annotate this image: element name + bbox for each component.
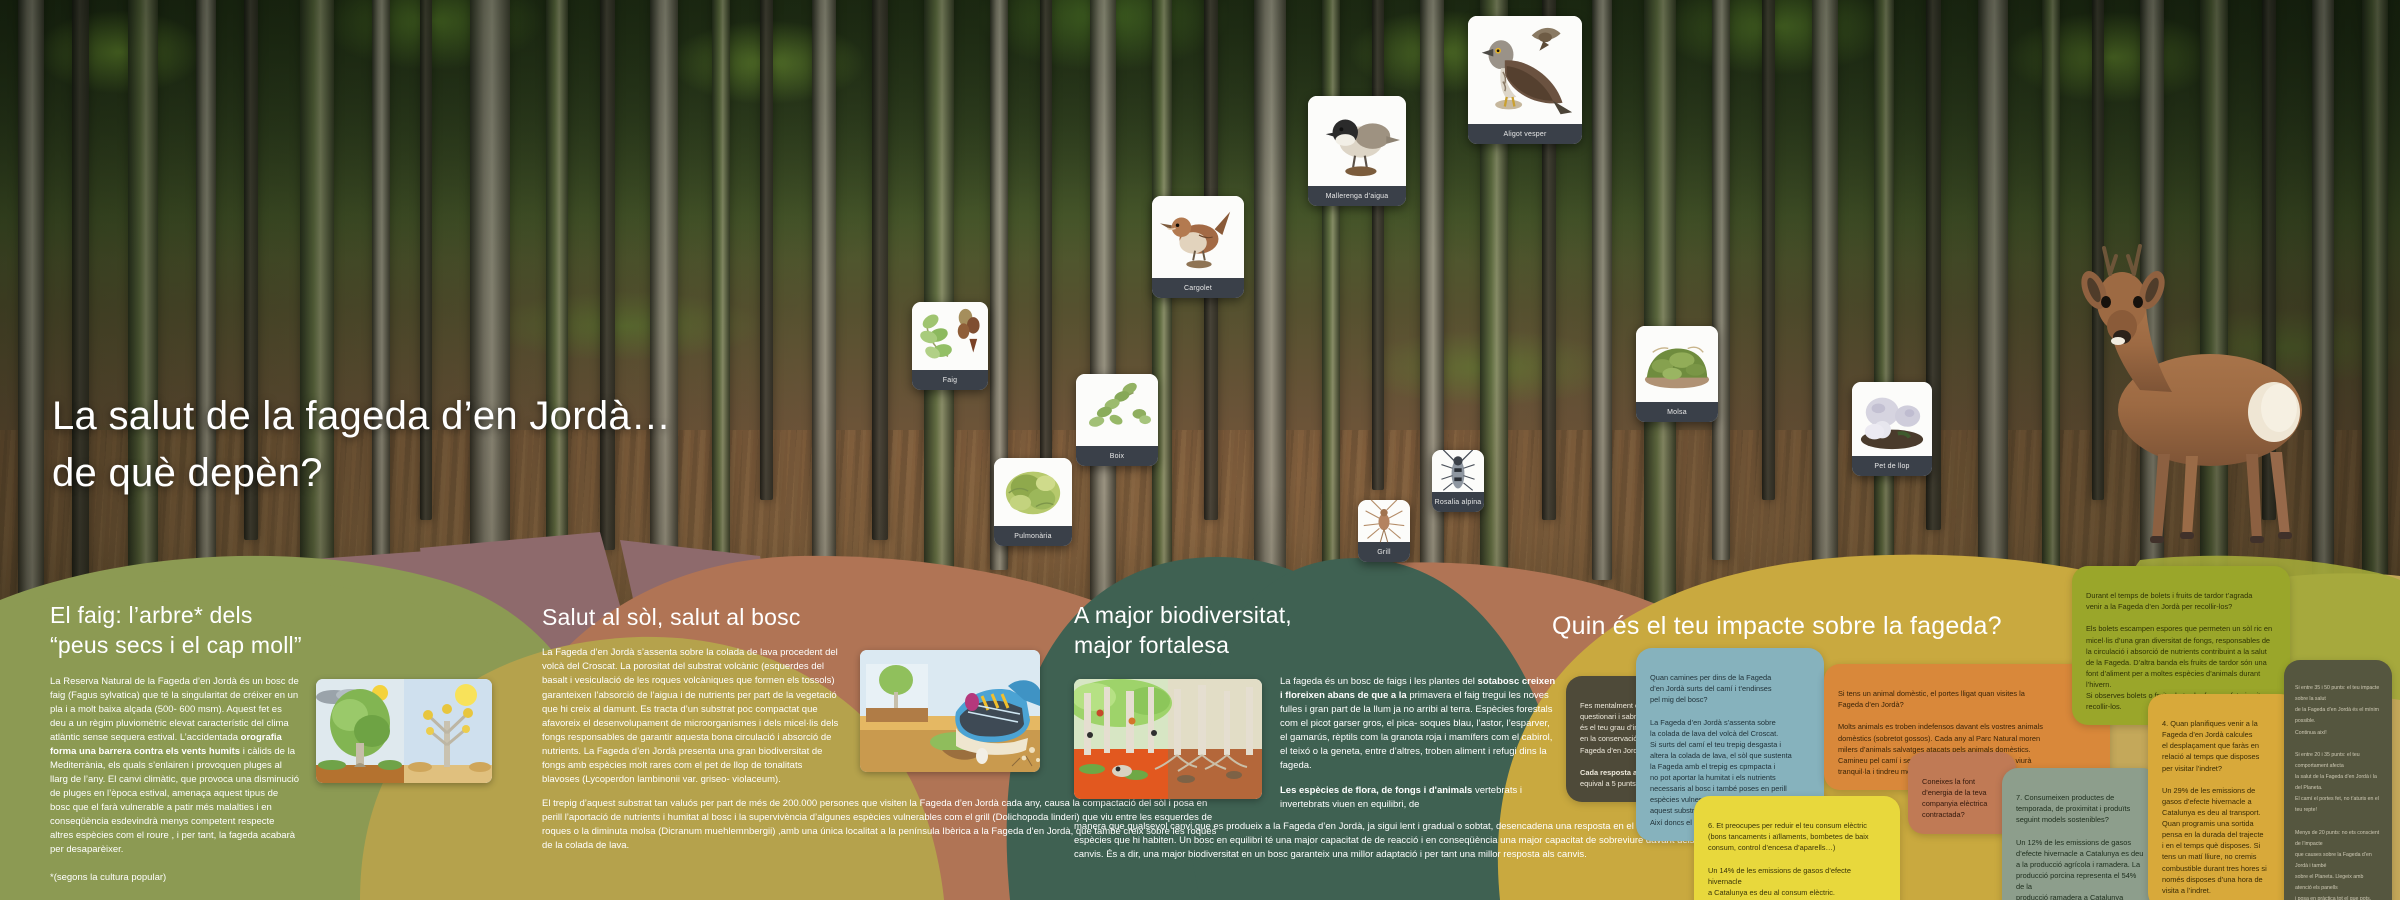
species-card-label: Grill: [1358, 542, 1410, 562]
page-title: La salut de la fageda d’en Jordà… de què…: [52, 388, 671, 502]
species-card-wren[interactable]: Cargolet: [1152, 196, 1244, 298]
panel-body-p1a: La fageda és un bosc de faigs i les plan…: [1280, 676, 1478, 687]
quiz-bubble-productes-temporada[interactable]: 7. Consumeixen productes de temporada, d…: [2002, 768, 2158, 900]
wren-illustration: [1152, 196, 1244, 278]
honey-buzzard-illustration: [1468, 16, 1582, 124]
marsh-tit-illustration: [1308, 96, 1406, 186]
bubble-text-2: equival a 5 punts: [1580, 779, 1636, 788]
species-card-label: Boix: [1076, 446, 1158, 466]
species-card-label: Pet de llop: [1852, 456, 1932, 476]
species-card-label: Pulmonària: [994, 526, 1072, 546]
species-card-honey-buzzard[interactable]: Aligot vesper: [1468, 16, 1582, 144]
bubble-text: 7. Consumeixen productes de temporada, d…: [2016, 793, 2143, 900]
poster-canvas: La salut de la fageda d’en Jordà… de què…: [0, 0, 2400, 900]
species-card-marsh-tit[interactable]: Mallerenga d’aigua: [1308, 96, 1406, 206]
beech-forest-understory-illustration: [1074, 679, 1262, 799]
quiz-bubble-font-energia[interactable]: Coneixes la font d’energia de la teva co…: [1908, 752, 2016, 834]
bubble-text: Coneixes la font d’energia de la teva co…: [1922, 777, 1987, 819]
species-card-label: Aligot vesper: [1468, 124, 1582, 144]
species-card-rosalia-beetle[interactable]: Rosalia alpina: [1432, 450, 1484, 512]
species-card-lungwort[interactable]: Pulmonària: [994, 458, 1072, 546]
species-card-label: Cargolet: [1152, 278, 1244, 298]
puffball-illustration: [1852, 382, 1932, 456]
bubble-text: 4. Quan planifiques venir a la Fageda d’…: [2162, 719, 2267, 895]
species-card-label: Mallerenga d’aigua: [1308, 186, 1406, 206]
bubble-text: Si entre 35 i 50 punts: el teu impacte s…: [2295, 685, 2379, 900]
rosalia-beetle-illustration: [1432, 450, 1484, 492]
panel-el-faig: El faig: l’arbre* dels “peus secs i el c…: [50, 600, 520, 885]
species-card-puffball[interactable]: Pet de llop: [1852, 382, 1932, 476]
panel-footnote: *(segons la cultura popular): [50, 871, 300, 885]
moss-illustration: [1636, 326, 1718, 402]
quiz-bubble-puntuacio[interactable]: Si entre 35 i 50 punts: el teu impacte s…: [2284, 660, 2392, 900]
roe-deer-photo: [2060, 240, 2350, 560]
panel-body-p2a: Les espècies de flora, de fongs i d'anim…: [1280, 785, 1472, 796]
hiking-boot-soil-compaction-illustration: [860, 650, 1040, 772]
panel-body-part1: La Fageda d’en Jordà s’assenta sobre la …: [542, 646, 842, 786]
species-card-box[interactable]: Boix: [1076, 374, 1158, 466]
species-card-cricket[interactable]: Grill: [1358, 500, 1410, 562]
box-leaf-illustration: [1076, 374, 1158, 446]
species-card-label: Rosalia alpina: [1432, 492, 1484, 512]
beech-tree-summer-winter-illustration: [316, 679, 492, 783]
bubble-text: 6. Et preocupes per reduir el teu consum…: [1708, 821, 1869, 900]
species-card-label: Molsa: [1636, 402, 1718, 422]
species-card-beech[interactable]: Faig: [912, 302, 988, 390]
cricket-illustration: [1358, 500, 1410, 542]
species-card-moss[interactable]: Molsa: [1636, 326, 1718, 422]
beech-leaf-illustration: [912, 302, 988, 370]
panel-body-part3: manera que qualsevol canvi que es produe…: [1074, 820, 1714, 862]
quiz-bubble-desplacament[interactable]: 4. Quan planifiques venir a la Fageda d’…: [2148, 694, 2296, 900]
panel-title: El faig: l’arbre* dels “peus secs i el c…: [50, 600, 520, 661]
quiz-bubble-consum-electric[interactable]: 6. Et preocupes per reduir el teu consum…: [1694, 796, 1900, 900]
panel-body-part2: i càlids de la Mediterrània, els quals s…: [50, 746, 299, 855]
panel-body-p1c: primavera el faig tregui les noves fulle…: [1280, 690, 1552, 771]
lungwort-illustration: [994, 458, 1072, 526]
species-card-label: Faig: [912, 370, 988, 390]
